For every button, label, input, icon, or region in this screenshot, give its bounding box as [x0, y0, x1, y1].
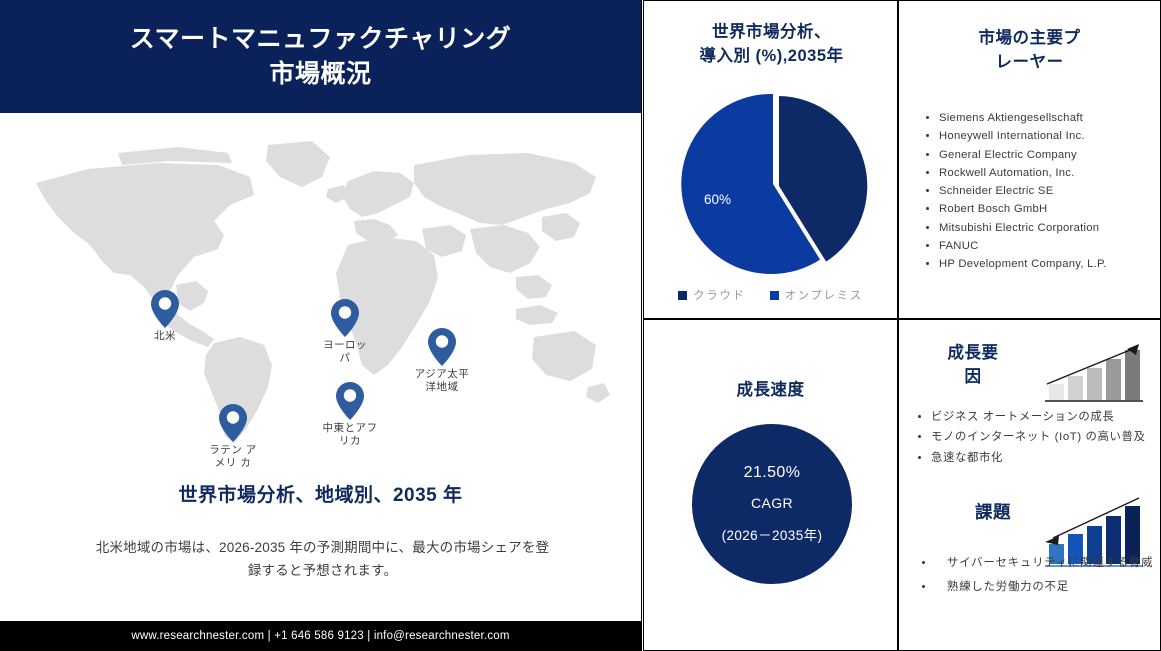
list-item: FANUC — [939, 237, 1161, 255]
deployment-pie-chart — [678, 89, 868, 279]
cagr-panel-title: 成長速度 — [654, 379, 887, 403]
challenges-title: 課題 — [943, 500, 1043, 525]
page-title: スマートマニュファクチャリング 市場概況 — [130, 22, 512, 91]
map-pin-icon — [331, 299, 359, 337]
map-pin-icon — [151, 290, 179, 328]
world-map-section: 北米 ヨーロッパ アジア太平 洋地域 — [0, 113, 641, 483]
list-item: Mitsubishi Electric Corporation — [939, 219, 1161, 237]
list-item: Honeywell International Inc. — [939, 127, 1161, 145]
list-item: サイバーセキュリティに関連する脅威 — [935, 555, 1161, 573]
growth-rate-panel: 成長速度 21.50% CAGR (2026－2035年) — [643, 319, 898, 651]
growth-drivers-panel: 成長要 因 ビジネス オートメーションの成長 モノのインターネット (IoT) … — [898, 319, 1161, 651]
region-analysis-title: 世界市場分析、地域別、2035 年 — [0, 480, 641, 507]
list-item: ビジネス オートメーションの成長 — [931, 409, 1161, 426]
growth-drivers-list: ビジネス オートメーションの成長 モノのインターネット (IoT) の高い普及 … — [911, 409, 1161, 470]
map-pin-label: アジア太平 洋地域 — [410, 368, 474, 394]
legend-label: オンプレミス — [785, 287, 863, 303]
header-banner: スマートマニュファクチャリング 市場概況 — [0, 0, 641, 113]
overview-panel: スマートマニュファクチャリング 市場概況 — [0, 0, 642, 651]
world-map-graphic — [18, 125, 618, 455]
deployment-pie-panel: 世界市場分析、 導入別 (%),2035年 60% クラウド オンプレミス — [643, 0, 898, 319]
footer-bar: www.researchnester.com | +1 646 586 9123… — [0, 621, 641, 651]
map-pin-label: ヨーロッパ — [318, 339, 372, 365]
legend-item-onpremise[interactable]: オンプレミス — [770, 287, 863, 303]
cagr-value: 21.50% — [744, 464, 801, 482]
map-pin-label: ラテン アメリ カ — [208, 444, 258, 470]
list-item: Schneider Electric SE — [939, 182, 1161, 200]
list-item: General Electric Company — [939, 146, 1161, 164]
pie-legend: クラウド オンプレミス — [644, 287, 897, 303]
list-item: Siemens Aktiengesellschaft — [939, 109, 1161, 127]
list-item: モノのインターネット (IoT) の高い普及 — [931, 429, 1161, 446]
cagr-label: CAGR — [751, 495, 793, 511]
drivers-title: 成長要 因 — [923, 342, 1023, 390]
players-panel-title: 市場の主要プ レーヤー — [919, 27, 1140, 75]
footer-contact-text: www.researchnester.com | +1 646 586 9123… — [131, 630, 509, 642]
cagr-period: (2026－2035年) — [722, 524, 823, 544]
key-players-panel: 市場の主要プ レーヤー Siemens Aktiengesellschaft H… — [898, 0, 1161, 319]
growth-bar-chart-icon — [1039, 340, 1149, 406]
cagr-circle-graphic: 21.50% CAGR (2026－2035年) — [692, 424, 852, 584]
pie-panel-title: 世界市場分析、 導入別 (%),2035年 — [654, 21, 889, 69]
infographic-page: スマートマニュファクチャリング 市場概況 — [0, 0, 1161, 651]
pie-slice-value-label: 60% — [704, 192, 731, 207]
map-pin-icon — [219, 404, 247, 442]
key-players-list: Siemens Aktiengesellschaft Honeywell Int… — [921, 109, 1161, 274]
legend-item-cloud[interactable]: クラウド — [678, 287, 745, 303]
map-pin-icon — [428, 328, 456, 366]
list-item: Robert Bosch GmbH — [939, 200, 1161, 218]
list-item: 急速な都市化 — [931, 450, 1161, 467]
list-item: Rockwell Automation, Inc. — [939, 164, 1161, 182]
list-item: 熟練した労働力の不足 — [935, 579, 1161, 597]
legend-swatch-icon — [678, 291, 687, 300]
legend-label: クラウド — [693, 287, 745, 303]
region-analysis-description: 北米地域の市場は、2026-2035 年の予測期間中に、最大の市場シェアを登録す… — [90, 537, 555, 583]
challenges-list: サイバーセキュリティに関連する脅威 熟練した労働力の不足 — [913, 555, 1161, 602]
map-pin-label: 中東とアフ リカ — [318, 422, 382, 448]
map-pin-icon — [336, 382, 364, 420]
list-item: HP Development Company, L.P. — [939, 255, 1161, 273]
legend-swatch-icon — [770, 291, 779, 300]
map-pin-label: 北米 — [121, 330, 209, 343]
